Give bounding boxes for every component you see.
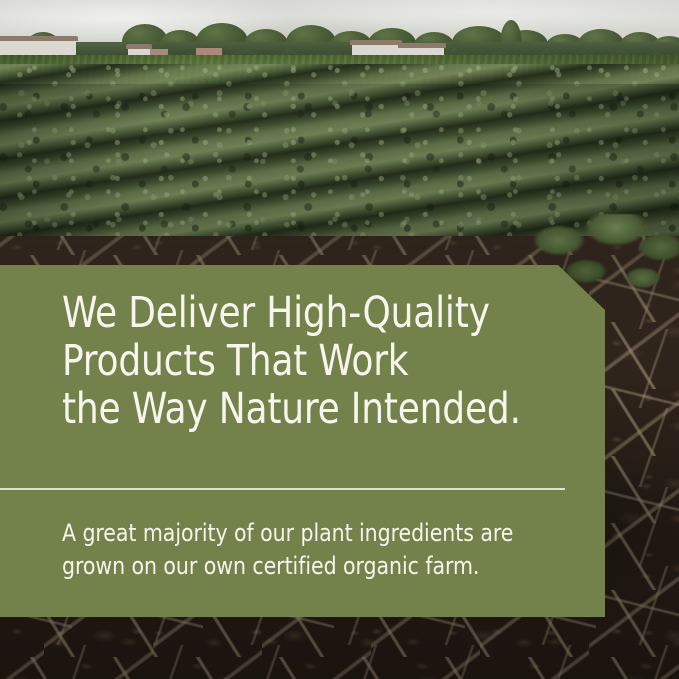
message-panel-content: We Deliver High-Quality Products That Wo…	[62, 265, 605, 617]
message-panel: We Deliver High-Quality Products That Wo…	[0, 265, 605, 617]
subtitle-text: A great majority of our plant ingredient…	[62, 517, 575, 583]
page-title: We Deliver High-Quality Products That Wo…	[62, 289, 555, 433]
divider	[0, 488, 565, 490]
promotional-banner: We Deliver High-Quality Products That Wo…	[0, 0, 679, 679]
